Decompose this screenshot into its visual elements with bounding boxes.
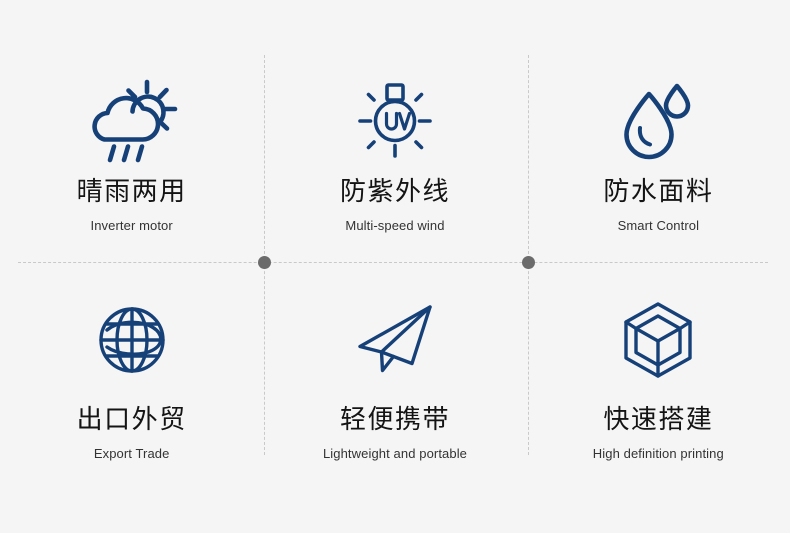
feature-title-1: 晴雨两用 [77, 178, 187, 207]
feature-cell-3: 防水面料 Smart Control [527, 0, 790, 262]
paper-plane-icon [352, 300, 438, 380]
feature-subtitle-1: Inverter motor [91, 218, 173, 233]
feature-subtitle-6: High definition printing [593, 446, 724, 461]
hexagon-cube-icon [620, 300, 696, 380]
water-droplet-icon [618, 78, 698, 164]
feature-title-2: 防紫外线 [340, 178, 450, 207]
feature-title-6: 快速搭建 [603, 406, 713, 435]
feature-cell-1: 晴雨两用 Inverter motor [0, 0, 263, 262]
feature-cell-4: 出口外贸 Export Trade [0, 262, 263, 533]
feature-cell-6: 快速搭建 High definition printing [527, 262, 790, 533]
globe-icon [94, 300, 170, 380]
feature-subtitle-2: Multi-speed wind [345, 218, 444, 233]
uv-sun-icon [352, 78, 438, 164]
feature-subtitle-5: Lightweight and portable [323, 446, 467, 461]
feature-grid: 晴雨两用 Inverter motor [0, 0, 790, 533]
feature-subtitle-3: Smart Control [618, 218, 700, 233]
sun-behind-rain-cloud-icon [84, 78, 180, 164]
feature-title-4: 出口外贸 [77, 406, 187, 435]
feature-title-5: 轻便携带 [340, 406, 450, 435]
feature-subtitle-4: Export Trade [94, 446, 170, 461]
feature-grid-board: 晴雨两用 Inverter motor [0, 0, 790, 533]
feature-cell-5: 轻便携带 Lightweight and portable [263, 262, 526, 533]
feature-title-3: 防水面料 [603, 178, 713, 207]
feature-cell-2: 防紫外线 Multi-speed wind [263, 0, 526, 262]
